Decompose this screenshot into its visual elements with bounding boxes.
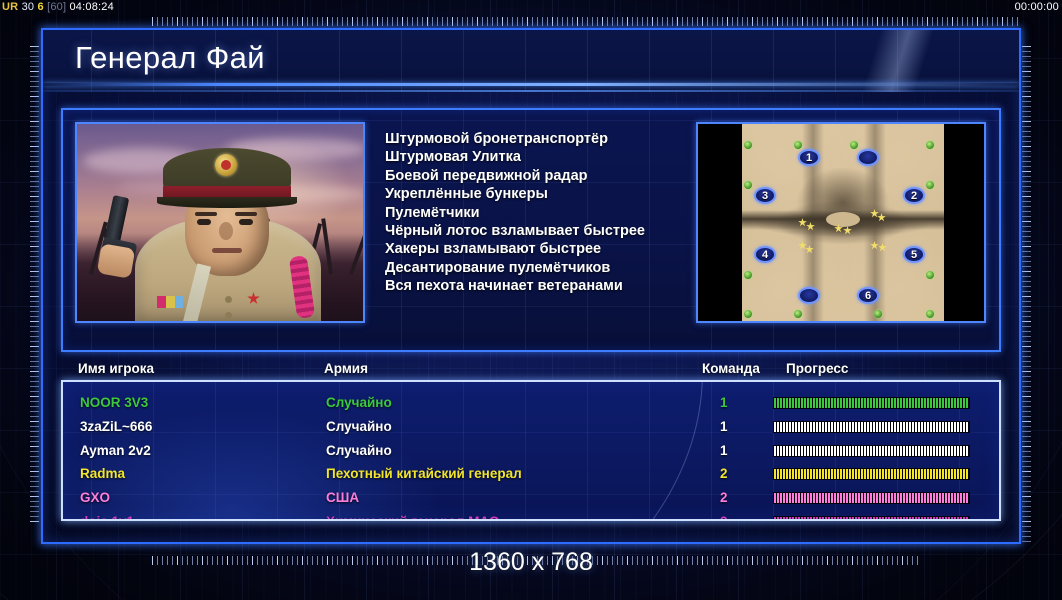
table-row[interactable]: RadmaПехотный китайский генерал2: [63, 463, 999, 487]
column-header-name: Имя игрока: [78, 361, 154, 376]
ability-item: Пулемётчики: [385, 204, 745, 222]
player-team: 2: [720, 490, 728, 505]
portrait-medal-ribbon: [157, 296, 183, 308]
portrait-eye: [197, 219, 211, 225]
ruler-left: [30, 46, 39, 526]
player-army: Случайно: [326, 419, 392, 434]
title-band: Генерал Фай: [43, 30, 1019, 92]
player-name: Ayman 2v2: [80, 443, 151, 458]
game-timer: 00:00:00: [1015, 1, 1059, 13]
map-start-position-4: 4: [754, 246, 776, 263]
status-bracket: [60]: [47, 1, 66, 13]
ability-item: Вся пехота начинает ветеранами: [385, 277, 745, 295]
map-supply-dock: [744, 271, 752, 279]
portrait-button: [225, 296, 232, 303]
player-name: Radma: [80, 466, 125, 481]
player-team: 2: [720, 466, 728, 481]
player-army: Случайно: [326, 395, 392, 410]
ability-item: Десантирование пулемётчиков: [385, 259, 745, 277]
portrait-button: [225, 312, 232, 319]
map-start-position-2: 2: [903, 187, 925, 204]
player-progress-fill: [774, 446, 969, 456]
column-header-progress: Прогресс: [786, 361, 848, 376]
player-name: 3zaZiL~666: [80, 419, 152, 434]
ability-item: Укреплённые бункеры: [385, 185, 745, 203]
status-bar-right: 00:00:00: [1015, 0, 1059, 14]
player-progress-fill: [774, 493, 969, 503]
map-supply-dock: [744, 181, 752, 189]
general-abilities-list: Штурмовой бронетранспортёр Штурмовая Ули…: [385, 130, 745, 296]
portrait-cap-badge: [215, 154, 237, 176]
player-team: 1: [720, 443, 728, 458]
player-progress-fill: [774, 422, 969, 432]
loading-screen-frame: Генерал Фай: [41, 28, 1021, 544]
map-supply-dock: [744, 141, 752, 149]
portrait-eye: [239, 219, 253, 225]
player-progress-fill: [774, 469, 969, 479]
player-team: 2: [720, 514, 728, 521]
map-start-position-unnumbered: [798, 287, 820, 304]
status-value1: 30: [22, 1, 35, 13]
player-team: 1: [720, 395, 728, 410]
player-progress-fill: [774, 398, 969, 408]
player-list-panel: NOOR 3V3Случайно13zaZiL~666Случайно1Ayma…: [61, 380, 1001, 521]
map-islet: [826, 212, 860, 227]
portrait-brow: [195, 212, 217, 216]
ruler-right: [1022, 46, 1031, 546]
player-army: США: [326, 490, 359, 505]
player-army: Химический генерал МАО: [326, 514, 500, 521]
map-supply-dock: [926, 271, 934, 279]
map-supply-dock: [874, 310, 882, 318]
ability-item: Штурмовая Улитка: [385, 148, 745, 166]
map-start-position-1: 1: [798, 149, 820, 166]
portrait-hand: [97, 243, 136, 278]
status-clock: 04:08:24: [69, 1, 113, 13]
general-info-panel: Штурмовой бронетранспортёр Штурмовая Ули…: [61, 108, 1001, 352]
map-start-position-6: 6: [857, 287, 879, 304]
resolution-label: 1360 x 768: [0, 548, 1062, 577]
ability-item: Чёрный лотос взламывает быстрее: [385, 222, 745, 240]
column-header-team: Команда: [702, 361, 760, 376]
table-row[interactable]: GXOСША2: [63, 487, 999, 511]
player-progress-bar: [773, 492, 970, 504]
table-row[interactable]: NOOR 3V3Случайно1: [63, 392, 999, 416]
column-header-army: Армия: [324, 361, 368, 376]
title-underline: [43, 83, 1019, 86]
map-supply-dock: [744, 310, 752, 318]
status-value2: 6: [37, 1, 43, 13]
map-supply-dock: [926, 310, 934, 318]
player-name: NOOR 3V3: [80, 395, 148, 410]
portrait-mouth: [212, 248, 242, 253]
portrait-brow: [235, 212, 257, 216]
status-prefix: UR: [2, 1, 18, 13]
map-supply-dock: [794, 310, 802, 318]
portrait-cap-brim: [157, 197, 297, 208]
map-start-position-5: 5: [903, 246, 925, 263]
player-table-header: Имя игрока Армия Команда Прогресс: [61, 361, 1001, 381]
portrait-nose: [219, 222, 233, 240]
player-progress-bar: [773, 468, 970, 480]
ruler-top: [152, 17, 1022, 26]
map-supply-dock: [926, 181, 934, 189]
table-row[interactable]: Ayman 2v2Случайно1: [63, 440, 999, 464]
ability-item: Боевой передвижной радар: [385, 167, 745, 185]
map-preview: 1 3 2 4 5 6: [696, 122, 986, 323]
player-progress-fill: [774, 517, 969, 521]
player-progress-bar: [773, 445, 970, 457]
map-start-position-3: 3: [754, 187, 776, 204]
player-team: 1: [720, 419, 728, 434]
title-underline-secondary: [43, 90, 1019, 92]
player-progress-bar: [773, 421, 970, 433]
table-row[interactable]: 3zaZiL~666Случайно1: [63, 416, 999, 440]
player-name: doia 1v1: [80, 514, 134, 521]
player-progress-bar: [773, 516, 970, 521]
table-row[interactable]: doia 1v1Химический генерал МАО2: [63, 511, 999, 521]
map-supply-dock: [794, 141, 802, 149]
status-bar: UR 30 6 [60] 04:08:24 00:00:00: [0, 0, 1062, 14]
map-start-position-unnumbered: [857, 149, 879, 166]
player-name: GXO: [80, 490, 110, 505]
map-supply-dock: [850, 141, 858, 149]
general-portrait: [75, 122, 365, 323]
status-bar-left: UR 30 6 [60] 04:08:24: [2, 0, 114, 14]
map-supply-dock: [926, 141, 934, 149]
player-army: Случайно: [326, 443, 392, 458]
player-army: Пехотный китайский генерал: [326, 466, 522, 481]
page-title: Генерал Фай: [75, 40, 265, 76]
player-progress-bar: [773, 397, 970, 409]
ability-item: Хакеры взламывают быстрее: [385, 240, 745, 258]
ability-item: Штурмовой бронетранспортёр: [385, 130, 745, 148]
